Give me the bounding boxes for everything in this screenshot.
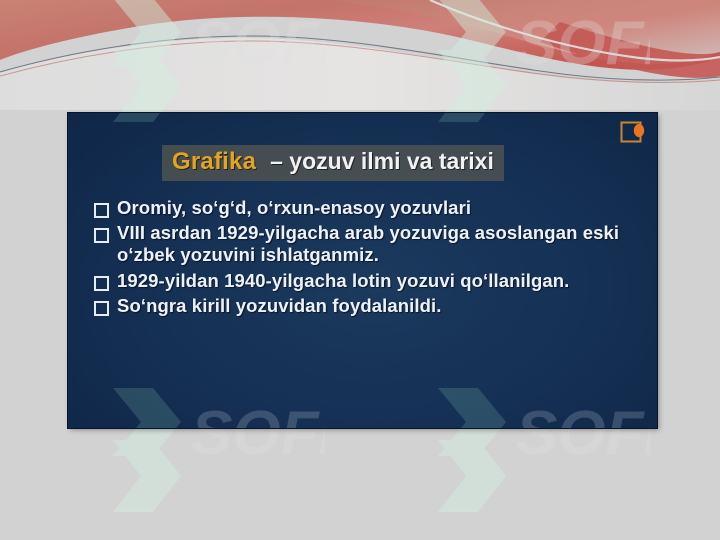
svg-text:SOFF: SOFF	[191, 399, 325, 428]
slide-title-keyword: Grafika	[172, 148, 256, 176]
list-item-text: So‘ngra kirill yozuvidan foydalanildi.	[117, 295, 442, 317]
list-item: Oromiy, so‘g‘d, o‘rxun-enasoy yozuvlari	[94, 197, 641, 219]
watermark-logo: SOFF	[420, 380, 650, 428]
slide-title: Grafika – yozuv ilmi va tarixi	[162, 145, 504, 181]
list-item-text: 1929-yildan 1940-yilgacha lotin yozuvi q…	[117, 270, 569, 292]
slide-title-rest: – yozuv ilmi va tarixi	[270, 148, 494, 175]
list-item-text: VIII asrdan 1929-yilgacha arab yozuviga …	[117, 222, 641, 266]
list-item: So‘ngra kirill yozuvidan foydalanildi.	[94, 295, 641, 317]
square-bullet-icon	[94, 276, 109, 291]
slide-viewer: SOFF SOFF SOFF SOFF SO	[0, 0, 720, 540]
square-bullet-icon	[94, 228, 109, 243]
square-bullet-icon	[94, 301, 109, 316]
watermark-logo: SOFF	[95, 380, 325, 428]
decorative-wave-header	[0, 0, 720, 110]
svg-text:SOFF: SOFF	[516, 9, 650, 78]
corner-ornament-icon	[619, 119, 645, 145]
bullet-list: Oromiy, so‘g‘d, o‘rxun-enasoy yozuvlari …	[94, 197, 641, 320]
list-item: 1929-yildan 1940-yilgacha lotin yozuvi q…	[94, 270, 641, 292]
list-item: VIII asrdan 1929-yilgacha arab yozuviga …	[94, 222, 641, 266]
list-item-text: Oromiy, so‘g‘d, o‘rxun-enasoy yozuvlari	[117, 197, 471, 219]
watermark-logo: SOFF	[420, 113, 650, 140]
svg-text:SOFF: SOFF	[516, 399, 650, 428]
svg-text:SOFF: SOFF	[191, 9, 325, 78]
watermark-logo: SOFF	[95, 113, 325, 140]
presentation-slide[interactable]: SOFF SOFF SOFF SOFF Grafika – yozuv ilmi…	[68, 113, 657, 428]
square-bullet-icon	[94, 203, 109, 218]
